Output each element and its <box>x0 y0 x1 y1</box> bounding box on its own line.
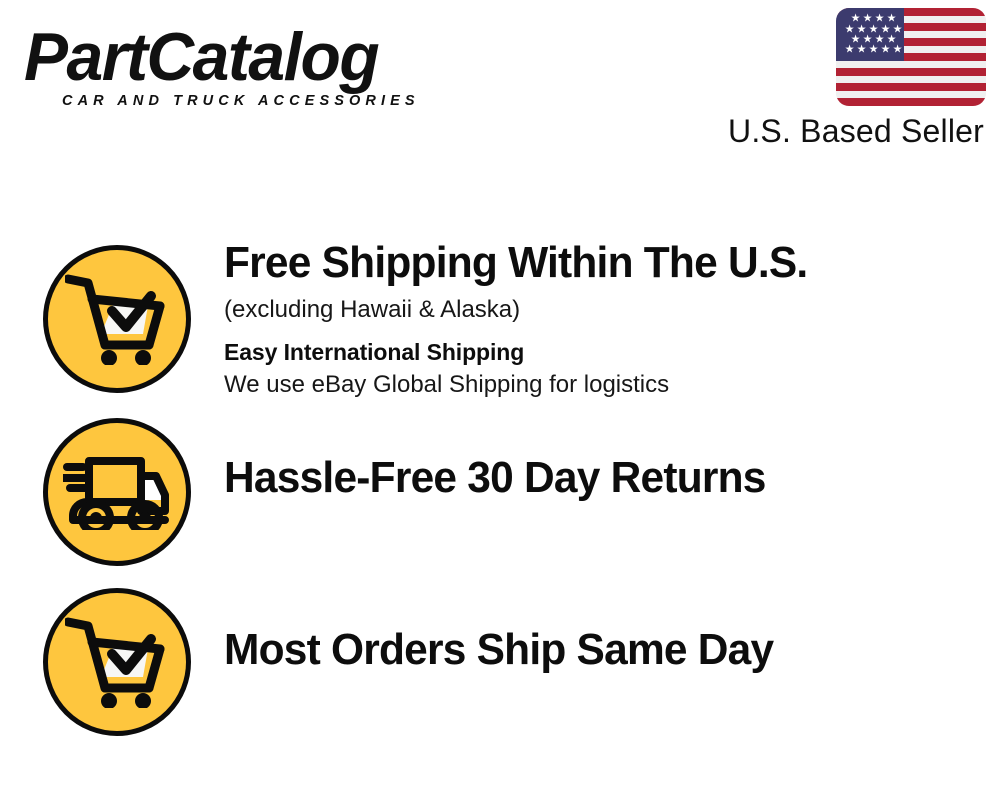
feature-title: Hassle-Free 30 Day Returns <box>224 412 973 504</box>
feature-title: Most Orders Ship Same Day <box>224 584 973 676</box>
banner-header: PartCatalog CAR AND TRUCK ACCESSORIES ★ <box>0 0 1000 180</box>
flag-stripe <box>836 76 986 84</box>
feature-text: Most Orders Ship Same Day <box>191 584 1000 676</box>
us-flag-icon: ★ ★ ★ ★ ★ ★ ★ ★ ★ ★ ★ ★ ★ ★ ★ ★ ★ ★ <box>836 8 986 106</box>
feature-subhead: Easy International Shipping <box>224 325 1000 367</box>
feature-row: Most Orders Ship Same Day <box>0 584 1000 756</box>
feature-note: (excluding Hawaii & Alaska) <box>224 289 1000 325</box>
feature-title: Free Shipping Within The U.S. <box>224 232 973 289</box>
flag-star: ★ <box>857 45 867 56</box>
flag-star: ★ <box>845 45 855 56</box>
feature-text: Free Shipping Within The U.S. (excluding… <box>191 232 1000 400</box>
delivery-truck-icon <box>43 418 191 566</box>
feature-text: Hassle-Free 30 Day Returns <box>191 412 1000 504</box>
flag-star: ★ <box>869 45 879 56</box>
brand-wordmark: PartCatalog <box>24 22 480 92</box>
feature-row: Hassle-Free 30 Day Returns <box>0 412 1000 584</box>
flag-stripe <box>836 61 986 69</box>
feature-row: Free Shipping Within The U.S. (excluding… <box>0 232 1000 412</box>
brand-logo: PartCatalog CAR AND TRUCK ACCESSORIES <box>24 22 494 109</box>
flag-star: ★ <box>881 45 891 56</box>
promo-banner: PartCatalog CAR AND TRUCK ACCESSORIES ★ <box>0 0 1000 800</box>
brand-tagline: CAR AND TRUCK ACCESSORIES <box>62 93 494 109</box>
flag-stripe <box>836 83 986 91</box>
feature-subtext: We use eBay Global Shipping for logistic… <box>224 367 1000 400</box>
shopping-cart-check-icon <box>43 245 191 393</box>
flag-star: ★ <box>893 45 903 56</box>
flag-stripe <box>836 91 986 99</box>
seller-badge-label: U.S. Based Seller <box>696 112 984 150</box>
flag-stripe <box>836 68 986 76</box>
seller-badge: ★ ★ ★ ★ ★ ★ ★ ★ ★ ★ ★ ★ ★ ★ ★ ★ ★ ★ U.S.… <box>696 8 986 150</box>
flag-stripe <box>836 98 986 106</box>
shopping-cart-check-icon <box>43 588 191 736</box>
